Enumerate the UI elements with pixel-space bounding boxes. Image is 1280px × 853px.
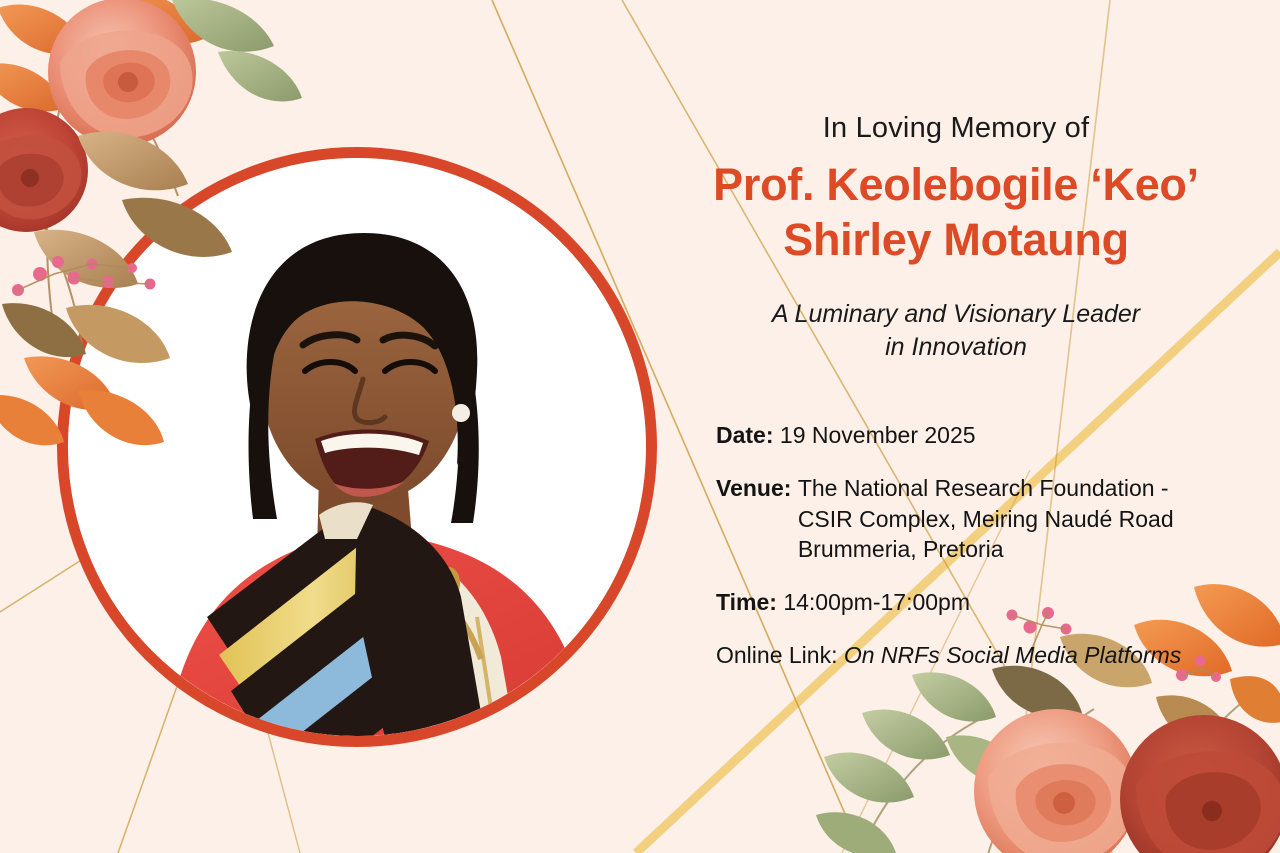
online-link-value: On NRFs Social Media Platforms <box>844 642 1181 668</box>
page-title: Prof. Keolebogile ‘Keo’ Shirley Motaung <box>632 158 1280 268</box>
text-column: In Loving Memory of Prof. Keolebogile ‘K… <box>632 0 1280 853</box>
tagline-line-1: A Luminary and Visionary Leader <box>632 298 1280 331</box>
detail-row-date: Date: 19 November 2025 <box>716 420 1276 451</box>
time-label: Time: <box>716 589 777 615</box>
detail-row-online-link: Online Link: On NRFs Social Media Platfo… <box>716 640 1276 671</box>
online-link-label: Online Link: <box>716 642 837 668</box>
venue-value: The National Research Foundation - CSIR … <box>798 473 1174 565</box>
detail-row-time: Time: 14:00pm-17:00pm <box>716 587 1276 618</box>
time-value: 14:00pm-17:00pm <box>783 589 970 615</box>
poster-canvas: In Loving Memory of Prof. Keolebogile ‘K… <box>0 0 1280 853</box>
venue-label: Venue: <box>716 475 791 501</box>
event-details: Date: 19 November 2025 Venue: The Nation… <box>716 420 1276 671</box>
detail-row-venue: Venue: The National Research Foundation … <box>716 473 1276 565</box>
name-line-2: Shirley Motaung <box>632 213 1280 268</box>
venue-line-1: The National Research Foundation - <box>798 473 1174 504</box>
tagline-line-2: in Innovation <box>632 331 1280 364</box>
portrait-circle <box>57 147 657 747</box>
tagline: A Luminary and Visionary Leader in Innov… <box>632 298 1280 364</box>
venue-line-2: CSIR Complex, Meiring Naudé Road <box>798 504 1174 535</box>
portrait-image <box>57 147 657 747</box>
date-label: Date: <box>716 422 774 448</box>
venue-line-3: Brummeria, Pretoria <box>798 534 1174 565</box>
memorial-intro: In Loving Memory of <box>632 112 1280 145</box>
date-value: 19 November 2025 <box>780 422 976 448</box>
name-line-1: Prof. Keolebogile ‘Keo’ <box>632 158 1280 213</box>
